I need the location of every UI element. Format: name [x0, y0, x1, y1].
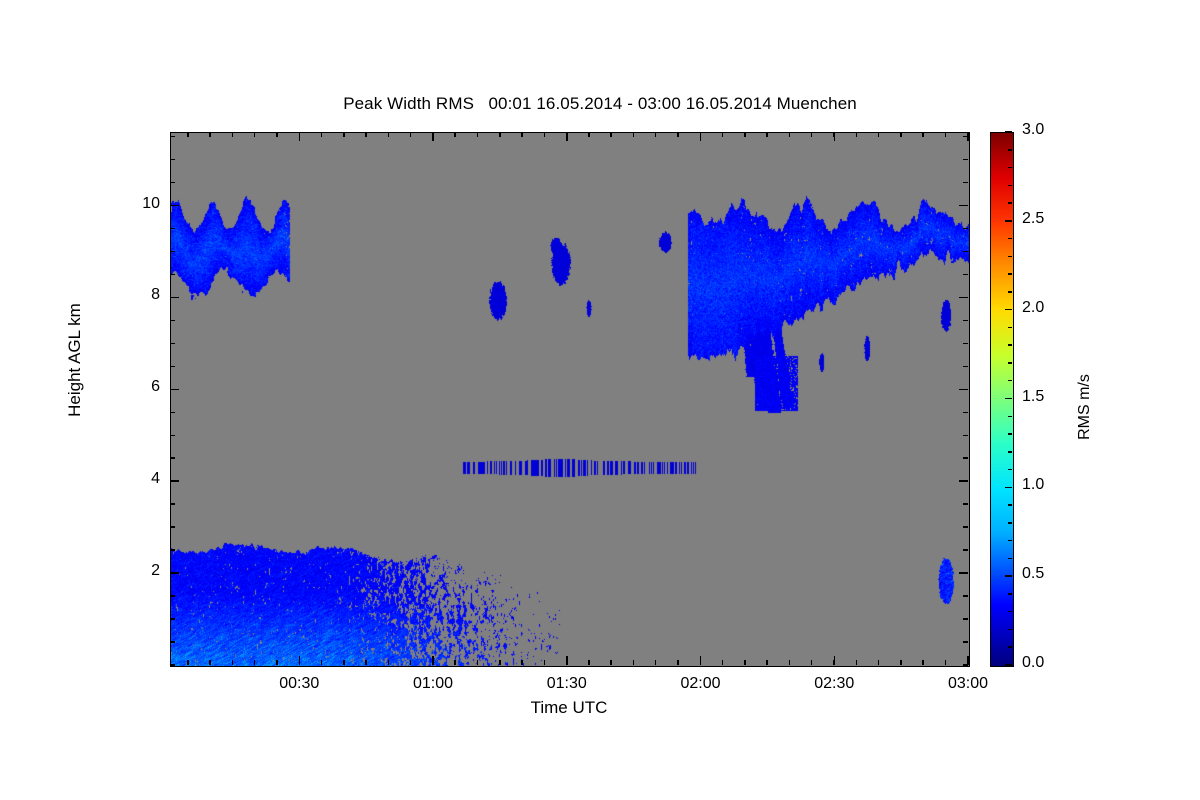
- x-tick-major: [700, 656, 702, 665]
- x-tick-minor-top: [856, 132, 858, 137]
- x-tick-minor: [321, 660, 323, 665]
- x-tick-minor: [232, 660, 234, 665]
- y-tick-minor: [170, 366, 175, 368]
- x-tick-minor: [833, 660, 835, 665]
- colorbar-tick-minor: [1008, 629, 1012, 631]
- y-tick-minor-right: [963, 136, 968, 138]
- colorbar-tick-major: [1005, 664, 1012, 666]
- x-tick-minor: [789, 660, 791, 665]
- x-tick-minor: [811, 660, 813, 665]
- y-tick-label: 10: [100, 195, 160, 213]
- y-tick-minor: [170, 549, 175, 551]
- page-title: Peak Width RMS 00:01 16.05.2014 - 03:00 …: [0, 94, 1200, 114]
- x-tick-minor-top: [655, 132, 657, 137]
- colorbar-label: RMS m/s: [1076, 307, 1094, 507]
- x-tick-major: [566, 656, 568, 665]
- y-tick-minor-right: [963, 526, 968, 528]
- x-tick-minor-top: [922, 132, 924, 137]
- y-tick-minor: [170, 159, 175, 161]
- x-tick-minor-top: [811, 132, 813, 137]
- heatmap-data-layer: [171, 133, 969, 666]
- colorbar-tick-minor: [1008, 433, 1012, 435]
- colorbar-tick-minor: [1008, 611, 1012, 613]
- x-tick-minor-top: [232, 132, 234, 137]
- y-tick-minor: [170, 412, 175, 414]
- x-tick-minor-top: [499, 132, 501, 137]
- y-tick-minor: [170, 664, 175, 666]
- y-tick-major: [170, 297, 179, 299]
- colorbar-tick-minor: [1008, 344, 1012, 346]
- y-axis-label: Height AGL km: [65, 230, 85, 490]
- colorbar-tick-minor: [1008, 504, 1012, 506]
- colorbar-tick-minor: [1008, 469, 1012, 471]
- colorbar-tick-label: 3.0: [1022, 121, 1044, 139]
- x-tick-minor-top: [633, 132, 635, 137]
- colorbar-tick-minor: [1008, 327, 1012, 329]
- colorbar-tick-minor: [1008, 202, 1012, 204]
- colorbar-tick-minor: [1008, 558, 1012, 560]
- colorbar-tick-minor: [1008, 522, 1012, 524]
- colorbar-tick-major: [1005, 398, 1012, 400]
- colorbar-tick-minor: [1008, 416, 1012, 418]
- y-tick-minor: [170, 274, 175, 276]
- y-tick-minor-right: [963, 159, 968, 161]
- x-tick-minor-top: [209, 132, 211, 137]
- x-tick-minor-top: [343, 132, 345, 137]
- x-tick-label: 01:30: [522, 675, 612, 693]
- x-tick-minor: [610, 660, 612, 665]
- colorbar-gradient: [991, 133, 1013, 666]
- x-tick-minor-top: [365, 132, 367, 137]
- x-tick-major-top: [700, 132, 702, 141]
- plot-area: [170, 132, 970, 667]
- x-tick-minor: [655, 660, 657, 665]
- x-tick-minor: [521, 660, 523, 665]
- y-tick-minor: [170, 641, 175, 643]
- colorbar: [990, 132, 1014, 667]
- x-tick-major-top: [432, 132, 434, 141]
- colorbar-tick-major: [1005, 487, 1012, 489]
- y-tick-minor-right: [963, 228, 968, 230]
- x-tick-minor-top: [254, 132, 256, 137]
- x-tick-minor: [544, 660, 546, 665]
- x-tick-minor: [276, 660, 278, 665]
- colorbar-tick-minor: [1008, 256, 1012, 258]
- y-tick-minor: [170, 320, 175, 322]
- colorbar-tick-label: 1.0: [1022, 476, 1044, 494]
- x-tick-minor: [454, 660, 456, 665]
- x-tick-minor: [254, 660, 256, 665]
- y-tick-major: [170, 480, 179, 482]
- y-tick-label: 2: [100, 562, 160, 580]
- x-tick-minor-top: [521, 132, 523, 137]
- y-tick-minor-right: [963, 457, 968, 459]
- y-tick-minor-right: [963, 366, 968, 368]
- x-tick-minor: [588, 660, 590, 665]
- figure-canvas: Peak Width RMS 00:01 16.05.2014 - 03:00 …: [0, 0, 1200, 800]
- x-tick-minor-top: [477, 132, 479, 137]
- y-tick-minor-right: [963, 320, 968, 322]
- colorbar-tick-minor: [1008, 273, 1012, 275]
- y-tick-major-right: [959, 572, 968, 574]
- x-tick-minor-top: [544, 132, 546, 137]
- y-tick-minor: [170, 618, 175, 620]
- x-tick-label: 00:30: [254, 675, 344, 693]
- y-tick-label: 8: [100, 286, 160, 304]
- y-tick-major: [170, 389, 179, 391]
- x-tick-minor-top: [878, 132, 880, 137]
- x-axis-label: Time UTC: [170, 698, 968, 718]
- x-tick-minor-top: [744, 132, 746, 137]
- x-tick-label: 03:00: [923, 675, 1013, 693]
- y-tick-minor: [170, 435, 175, 437]
- y-tick-major-right: [959, 480, 968, 482]
- colorbar-tick-minor: [1008, 167, 1012, 169]
- y-tick-minor-right: [963, 641, 968, 643]
- y-tick-minor-right: [963, 274, 968, 276]
- x-tick-minor: [410, 660, 412, 665]
- x-tick-minor: [388, 660, 390, 665]
- x-tick-minor-top: [766, 132, 768, 137]
- y-tick-minor-right: [963, 549, 968, 551]
- y-tick-major-right: [959, 205, 968, 207]
- x-tick-minor-top: [789, 132, 791, 137]
- x-tick-minor: [499, 660, 501, 665]
- x-tick-minor: [900, 660, 902, 665]
- x-tick-minor-top: [388, 132, 390, 137]
- x-tick-minor-top: [722, 132, 724, 137]
- y-tick-minor: [170, 526, 175, 528]
- y-tick-minor-right: [963, 251, 968, 253]
- colorbar-tick-major: [1005, 575, 1012, 577]
- colorbar-tick-minor: [1008, 238, 1012, 240]
- x-tick-minor-top: [187, 132, 189, 137]
- y-tick-minor: [170, 182, 175, 184]
- x-tick-minor-top: [833, 132, 835, 137]
- y-tick-minor: [170, 136, 175, 138]
- x-tick-minor: [766, 660, 768, 665]
- y-tick-major: [170, 205, 179, 207]
- y-tick-minor-right: [963, 412, 968, 414]
- x-tick-minor-top: [588, 132, 590, 137]
- x-tick-minor-top: [945, 132, 947, 137]
- y-tick-minor: [170, 251, 175, 253]
- colorbar-tick-minor: [1008, 451, 1012, 453]
- colorbar-tick-minor: [1008, 646, 1012, 648]
- x-tick-label: 02:00: [656, 675, 746, 693]
- x-tick-minor: [187, 660, 189, 665]
- x-tick-minor: [856, 660, 858, 665]
- x-tick-minor-top: [677, 132, 679, 137]
- x-tick-minor: [945, 660, 947, 665]
- x-tick-minor-top: [900, 132, 902, 137]
- y-tick-minor-right: [963, 664, 968, 666]
- colorbar-tick-minor: [1008, 362, 1012, 364]
- y-tick-minor: [170, 595, 175, 597]
- y-tick-label: 4: [100, 470, 160, 488]
- y-tick-minor-right: [963, 343, 968, 345]
- colorbar-tick-minor: [1008, 593, 1012, 595]
- y-tick-minor-right: [963, 182, 968, 184]
- x-tick-minor: [677, 660, 679, 665]
- x-tick-minor-top: [410, 132, 412, 137]
- y-tick-minor-right: [963, 595, 968, 597]
- x-tick-major-top: [299, 132, 301, 141]
- colorbar-tick-label: 2.5: [1022, 210, 1044, 228]
- x-tick-minor-top: [454, 132, 456, 137]
- y-tick-label: 6: [100, 378, 160, 396]
- colorbar-tick-minor: [1008, 540, 1012, 542]
- x-tick-minor: [209, 660, 211, 665]
- colorbar-tick-minor: [1008, 185, 1012, 187]
- x-tick-label: 01:00: [388, 675, 478, 693]
- colorbar-tick-major: [1005, 309, 1012, 311]
- x-tick-minor: [365, 660, 367, 665]
- x-tick-minor-top: [276, 132, 278, 137]
- colorbar-tick-minor: [1008, 380, 1012, 382]
- x-tick-label: 02:30: [789, 675, 879, 693]
- x-tick-minor: [343, 660, 345, 665]
- colorbar-tick-label: 0.5: [1022, 565, 1044, 583]
- colorbar-tick-label: 1.5: [1022, 388, 1044, 406]
- y-tick-minor-right: [963, 435, 968, 437]
- colorbar-tick-minor: [1008, 149, 1012, 151]
- x-tick-minor: [477, 660, 479, 665]
- colorbar-tick-major: [1005, 131, 1012, 133]
- colorbar-tick-label: 0.0: [1022, 654, 1044, 672]
- x-tick-minor-top: [610, 132, 612, 137]
- colorbar-tick-label: 2.0: [1022, 299, 1044, 317]
- y-tick-minor-right: [963, 503, 968, 505]
- y-tick-minor: [170, 457, 175, 459]
- y-tick-minor: [170, 343, 175, 345]
- x-tick-minor: [878, 660, 880, 665]
- y-tick-minor: [170, 228, 175, 230]
- x-tick-minor: [744, 660, 746, 665]
- x-tick-minor-top: [321, 132, 323, 137]
- x-tick-minor: [633, 660, 635, 665]
- y-tick-minor-right: [963, 618, 968, 620]
- colorbar-tick-major: [1005, 220, 1012, 222]
- y-tick-major: [170, 572, 179, 574]
- y-tick-major-right: [959, 297, 968, 299]
- x-tick-major-top: [566, 132, 568, 141]
- x-tick-major: [299, 656, 301, 665]
- x-tick-major: [432, 656, 434, 665]
- y-tick-major-right: [959, 389, 968, 391]
- colorbar-tick-minor: [1008, 291, 1012, 293]
- x-tick-minor: [722, 660, 724, 665]
- y-tick-minor: [170, 503, 175, 505]
- x-tick-minor: [922, 660, 924, 665]
